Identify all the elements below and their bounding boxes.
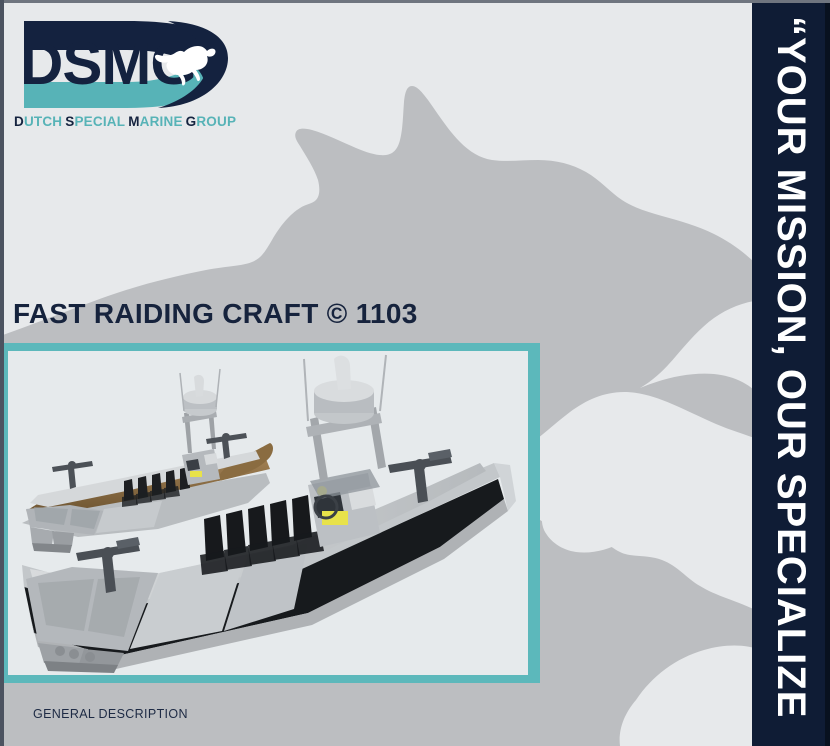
tagline-rest-3: ROUP xyxy=(196,114,236,129)
lion-swoosh-icon: DSMG xyxy=(8,18,248,113)
tagline-rest-1: PECIAL xyxy=(74,114,125,129)
craft-render-image xyxy=(8,351,528,675)
tagline-cap-0: D xyxy=(14,114,24,129)
tagline-cap-2: M xyxy=(128,114,139,129)
sidebar-right-edge xyxy=(825,0,830,746)
page-edge-top xyxy=(0,0,830,3)
page-edge-left xyxy=(0,0,4,746)
tagline-rest-0: UTCH xyxy=(24,114,62,129)
page-title: FAST RAIDING CRAFT © 1103 xyxy=(13,298,418,330)
fast-raiding-craft-illustration xyxy=(8,351,528,675)
tagline-cap-3: G xyxy=(186,114,197,129)
dsmg-logo: DSMG DUTCHSPECIALMARINEGROUP xyxy=(8,18,248,136)
tagline-rest-2: ARINE xyxy=(140,114,183,129)
section-label: GENERAL DESCRIPTION xyxy=(33,707,188,721)
sidebar-tagline-text: “YOUR MISSION, OUR SPECIALIZE xyxy=(771,0,811,718)
logo-tagline: DUTCHSPECIALMARINEGROUP xyxy=(14,114,250,129)
tagline-sidebar: “YOUR MISSION, OUR SPECIALIZE xyxy=(752,0,830,746)
presentation-slide: DSMG DUTCHSPECIALMARINEGROUP FAST RAIDIN… xyxy=(0,0,830,746)
picture-frame xyxy=(0,343,540,683)
